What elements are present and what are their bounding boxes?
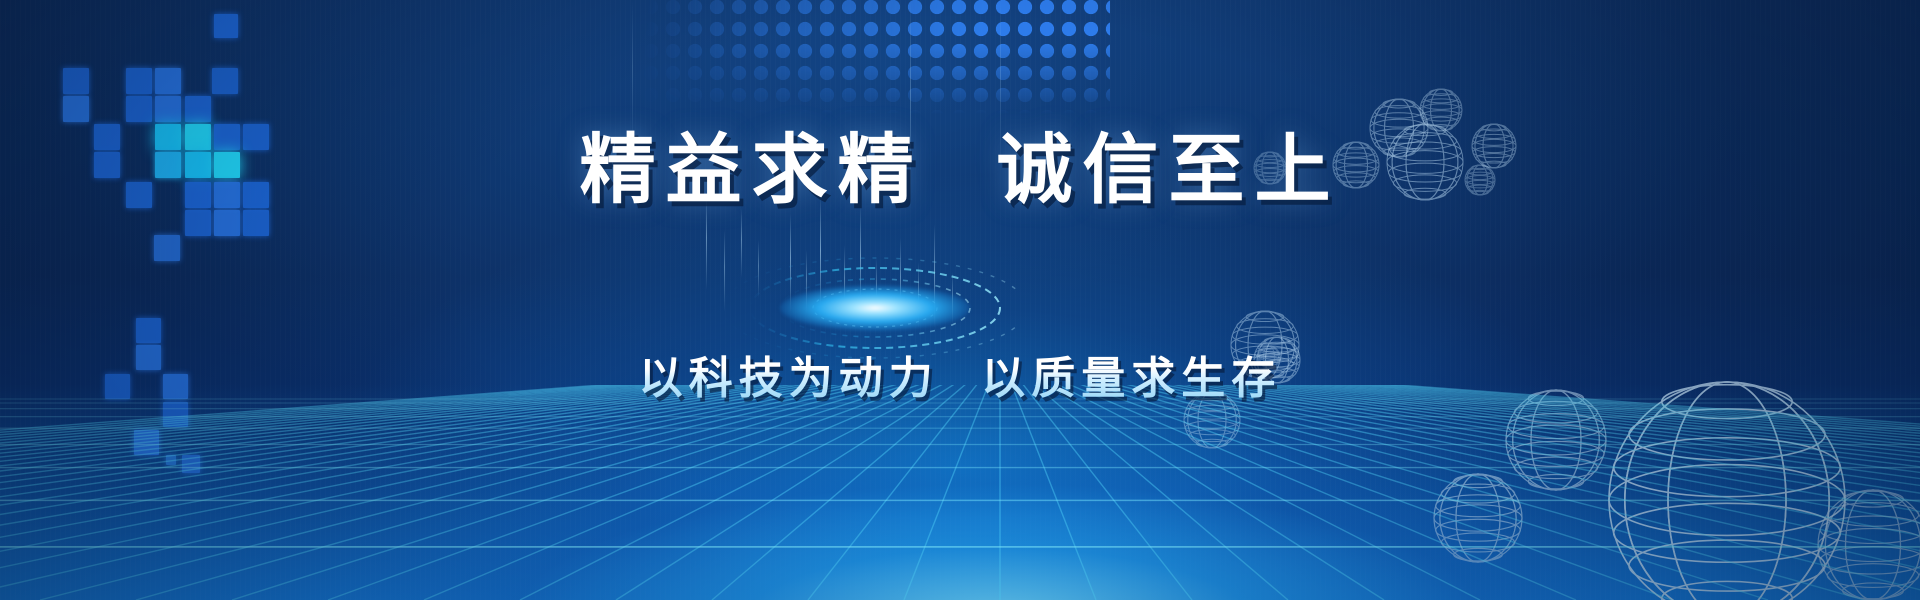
banner-title: 精益求精 诚信至上 [0, 108, 1920, 218]
vignette-overlay [0, 0, 1920, 600]
banner-subtitle: 以科技为动力 以质量求生存 [0, 342, 1920, 406]
hero-banner: 精益求精 诚信至上 以科技为动力 以质量求生存 [0, 0, 1920, 600]
